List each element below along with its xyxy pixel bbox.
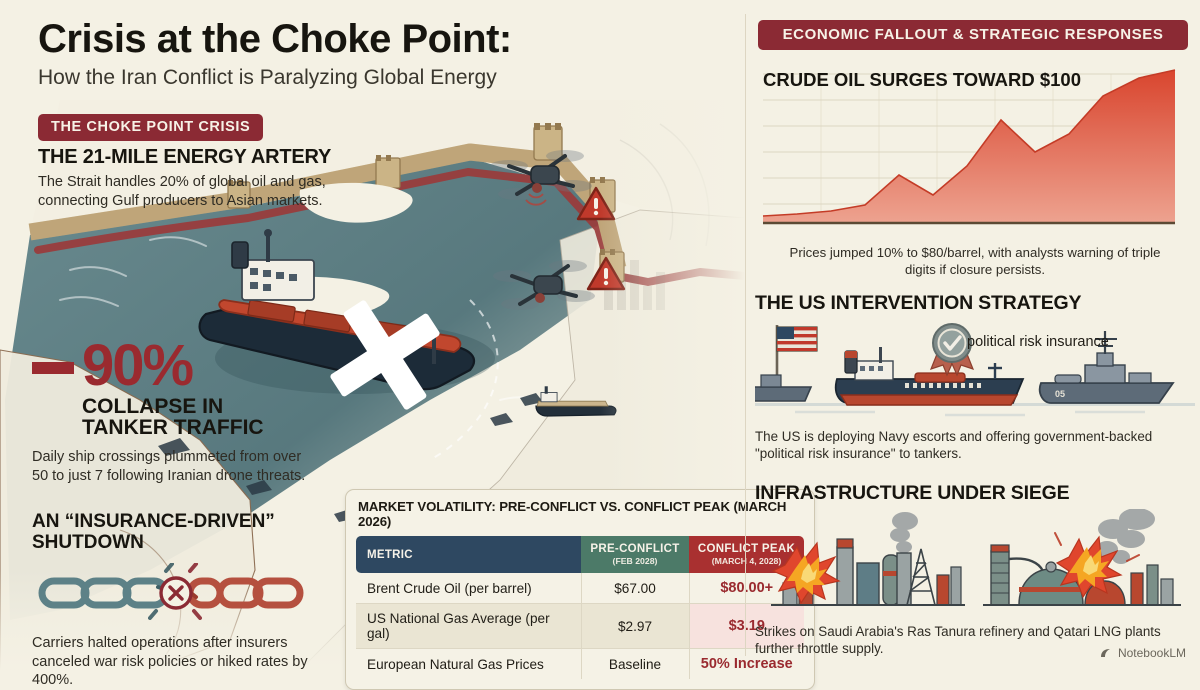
infrastructure-siege-block: INFRASTRUCTURE UNDER SIEGE <box>755 482 1195 658</box>
notebooklm-watermark: NotebookLM <box>1099 646 1186 660</box>
stat-value-row: 90% <box>32 338 312 393</box>
energy-artery-body: The Strait handles 20% of global oil and… <box>38 173 338 211</box>
navy-escort-illustration: 05 <box>755 317 1195 422</box>
title-block: Crisis at the Choke Point: How the Iran … <box>38 18 678 90</box>
column-header-pre-conflict: PRE-CONFLICT (FEB 2028) <box>581 536 689 573</box>
cell-pre-conflict: Baseline <box>581 649 689 680</box>
stat-value: 90% <box>82 338 192 393</box>
cell-metric: European Natural Gas Prices <box>356 649 581 680</box>
insurance-shutdown-description: Carriers halted operations after insurer… <box>32 634 322 690</box>
energy-artery-block: THE 21-MILE ENERGY ARTERY The Strait han… <box>38 146 338 211</box>
column-header-metric: METRIC <box>356 536 581 573</box>
watermark-label: NotebookLM <box>1118 646 1186 660</box>
table-row: US National Gas Average (per gal) $2.97 … <box>356 604 804 649</box>
notebooklm-logo-icon <box>1099 646 1113 660</box>
table-header-row: METRIC PRE-CONFLICT (FEB 2028) CONFLICT … <box>356 536 804 573</box>
page-title: Crisis at the Choke Point: <box>38 18 678 60</box>
table-head: METRIC PRE-CONFLICT (FEB 2028) CONFLICT … <box>356 536 804 573</box>
refinery-strike-illustration <box>755 509 1195 617</box>
column-header-pre-conflict-label: PRE-CONFLICT <box>587 543 683 555</box>
refinery-left <box>771 512 965 605</box>
table-body: Brent Crude Oil (per barrel) $67.00 $80.… <box>356 573 804 679</box>
table-row: European Natural Gas Prices Baseline 50%… <box>356 649 804 680</box>
page-subtitle: How the Iran Conflict is Paralyzing Glob… <box>38 66 678 90</box>
lng-plant-right <box>983 509 1181 605</box>
us-intervention-heading: THE US INTERVENTION STRATEGY <box>755 292 1195 315</box>
political-risk-insurance-label: political risk insurance <box>967 334 1109 351</box>
section-badge-choke-point: THE CHOKE POINT CRISIS <box>38 114 263 141</box>
crude-oil-chart-heading: CRUDE OIL SURGES TOWARD $100 <box>763 70 1081 90</box>
chart-area-series <box>763 70 1175 222</box>
us-intervention-block: THE US INTERVENTION STRATEGY <box>755 292 1195 463</box>
energy-artery-heading: THE 21-MILE ENERGY ARTERY <box>38 146 338 169</box>
column-header-pre-conflict-date: (FEB 2028) <box>587 556 683 566</box>
escorted-tanker <box>836 347 1023 405</box>
panel-divider <box>745 14 746 656</box>
column-header-metric-label: METRIC <box>367 549 575 561</box>
infographic-root: Crisis at the Choke Point: How the Iran … <box>0 0 1200 670</box>
crude-oil-chart-caption: Prices jumped 10% to $80/barrel, with an… <box>755 245 1195 279</box>
cell-metric: Brent Crude Oil (per barrel) <box>356 573 581 604</box>
cell-metric: US National Gas Average (per gal) <box>356 604 581 649</box>
stat-label: COLLAPSE IN TANKER TRAFFIC <box>82 396 312 438</box>
smoke-plume-left <box>890 512 918 553</box>
right-panel: ECONOMIC FALLOUT & STRATEGIC RESPONSES C… <box>745 0 1200 670</box>
market-table-title: MARKET VOLATILITY: PRE-CONFLICT VS. CONF… <box>356 499 804 529</box>
stat-description: Daily ship crossings plummeted from over… <box>32 448 312 485</box>
us-intervention-description: The US is deploying Navy escorts and off… <box>755 428 1195 463</box>
navy-escort-left <box>755 375 811 401</box>
section-badge-economic-fallout: ECONOMIC FALLOUT & STRATEGIC RESPONSES <box>758 20 1188 50</box>
market-volatility-table: METRIC PRE-CONFLICT (FEB 2028) CONFLICT … <box>356 536 804 679</box>
sea-ripples <box>795 412 1145 415</box>
hull-number: 05 <box>1055 389 1065 399</box>
tanker-traffic-stat-block: 90% COLLAPSE IN TANKER TRAFFIC Daily shi… <box>32 338 312 485</box>
insurance-shutdown-block: AN “INSURANCE-DRIVEN” SHUTDOWN <box>32 512 322 690</box>
infrastructure-heading: INFRASTRUCTURE UNDER SIEGE <box>755 482 1195 505</box>
broken-chain-icon <box>38 563 308 621</box>
crude-oil-chart-block: CRUDE OIL SURGES TOWARD $100 <box>755 62 1195 279</box>
table-row: Brent Crude Oil (per barrel) $67.00 $80.… <box>356 573 804 604</box>
insurance-shutdown-heading: AN “INSURANCE-DRIVEN” SHUTDOWN <box>32 512 322 553</box>
cell-pre-conflict: $2.97 <box>581 604 689 649</box>
minus-sign-icon <box>32 362 74 374</box>
cell-pre-conflict: $67.00 <box>581 573 689 604</box>
